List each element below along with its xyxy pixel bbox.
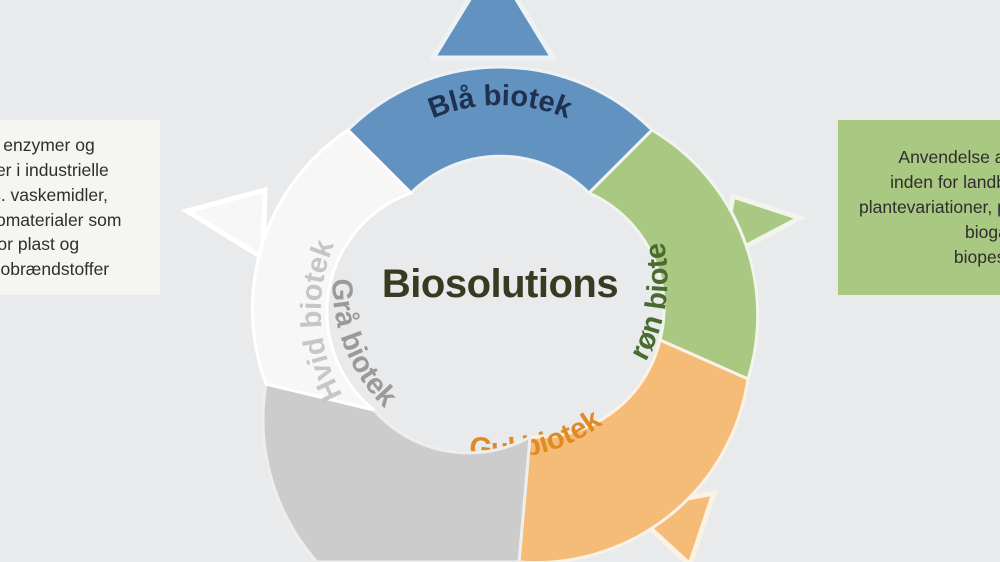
wheel-hub (376, 172, 624, 420)
diagram-canvas: Blå biotek Grøn biotek Gul biotek Grå bi… (0, 0, 1000, 562)
callout-hvid-biotek: Produktion af enzymer og mikroorganismer… (0, 120, 160, 295)
segment-bla-arrow (433, 0, 553, 58)
segment-hvid-arrow (187, 190, 265, 258)
callout-gron-biotek: Anvendelse af bioteknologi inden for lan… (838, 120, 1000, 295)
segment-bla-biotek[interactable]: Blå biotek (348, 0, 652, 193)
